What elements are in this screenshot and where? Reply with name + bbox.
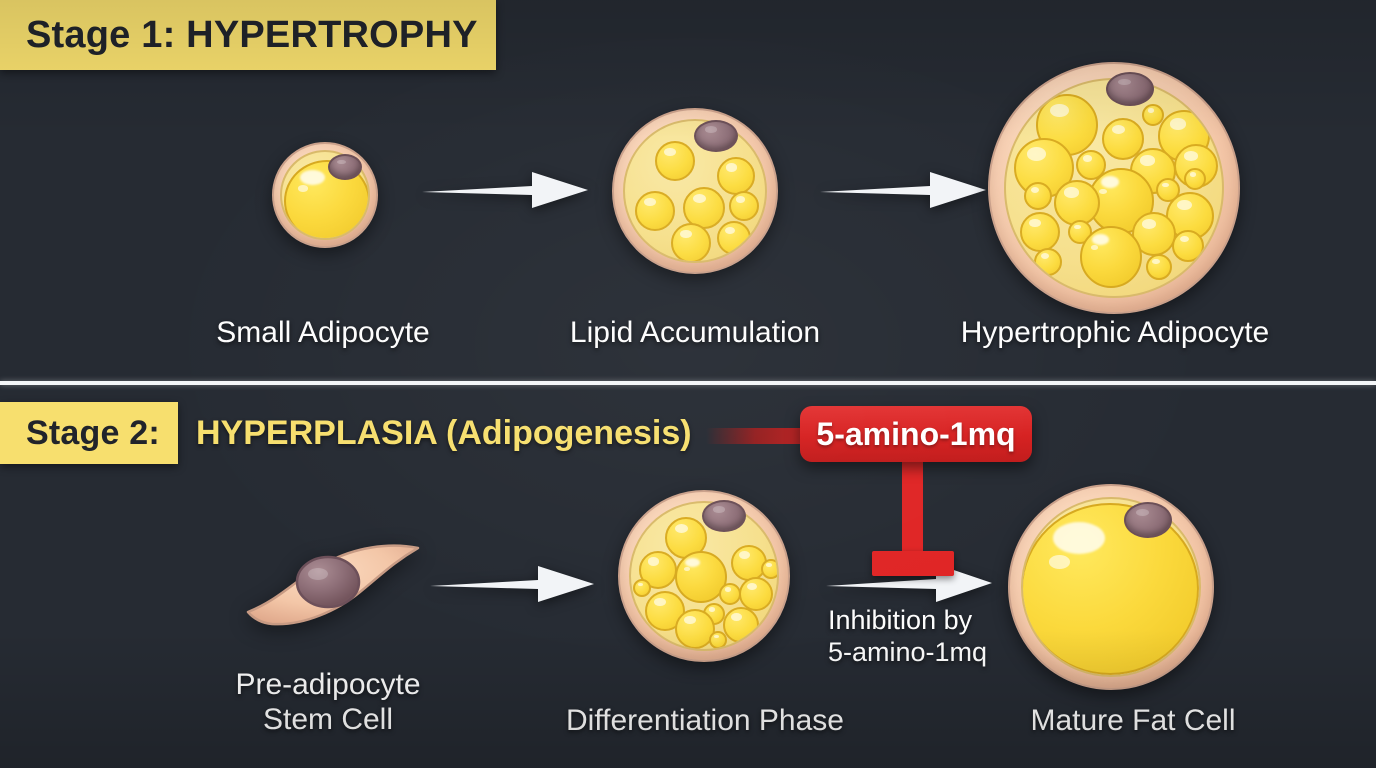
stage2-banner: Stage 2: xyxy=(0,402,178,464)
cell-pre-adipocyte xyxy=(242,534,428,638)
cell-nucleus xyxy=(694,120,738,152)
cell-lipid-accumulation xyxy=(612,108,778,274)
cell-mature-fat-cell xyxy=(1008,484,1214,690)
lipid-droplet xyxy=(1172,230,1204,262)
lipid-droplet xyxy=(1021,503,1199,675)
caption-small-adipocyte: Small Adipocyte xyxy=(160,316,486,351)
lipid-droplet xyxy=(1034,248,1062,276)
stage2-banner-title: HYPERPLASIA (Adipogenesis) xyxy=(196,402,692,464)
cell-small-adipocyte xyxy=(272,142,378,248)
lipid-droplet xyxy=(1184,168,1206,190)
cell-hypertrophic-adipocyte xyxy=(988,62,1240,314)
cell-cytoplasm xyxy=(1021,497,1201,677)
stage1-banner-label: Stage 1: HYPERTROPHY xyxy=(26,16,478,54)
lipid-droplet xyxy=(717,221,751,255)
cell-differentiation-phase xyxy=(618,490,790,662)
lipid-droplet xyxy=(1024,182,1052,210)
drug-badge-label: 5-amino-1mq xyxy=(816,416,1015,453)
lipid-droplet xyxy=(633,579,651,597)
drug-badge[interactable]: 5-amino-1mq xyxy=(800,406,1032,462)
cell-nucleus xyxy=(1124,502,1172,538)
lipid-droplet xyxy=(717,157,755,195)
stage-divider xyxy=(0,381,1376,385)
caption-hypertrophic-adipocyte: Hypertrophic Adipocyte xyxy=(930,316,1300,351)
arrow-right-1 xyxy=(420,168,590,212)
inhibition-label: Inhibition by 5-amino-1mq xyxy=(828,604,1028,669)
cell-nucleus xyxy=(702,500,746,532)
lipid-droplet xyxy=(729,191,759,221)
arrow-right-3 xyxy=(428,562,596,606)
cell-cytoplasm xyxy=(1004,78,1224,298)
figure-canvas: Small Adipocyte Lipid Accumulation Hyper… xyxy=(0,0,1376,768)
lipid-droplet xyxy=(719,583,741,605)
lipid-droplet xyxy=(709,631,727,649)
cell-nucleus xyxy=(1106,72,1154,106)
lipid-droplet xyxy=(761,559,779,579)
lipid-droplet xyxy=(1146,254,1172,280)
cell-nucleus xyxy=(328,154,362,180)
lipid-droplet xyxy=(723,607,759,643)
caption-differentiation-phase: Differentiation Phase xyxy=(540,704,870,739)
lipid-droplet xyxy=(1054,180,1100,226)
stage1-banner: Stage 1: HYPERTROPHY xyxy=(0,0,496,70)
lipid-droplet xyxy=(635,191,675,231)
caption-pre-adipocyte: Pre-adipocyte Stem Cell xyxy=(170,668,486,737)
lipid-droplet xyxy=(1020,212,1060,252)
lipid-droplet xyxy=(655,141,695,181)
lipid-droplet xyxy=(671,223,711,263)
stage2-banner-label: Stage 2: xyxy=(26,416,160,450)
inhibition-bar-icon xyxy=(872,551,954,576)
lipid-droplet xyxy=(739,577,773,611)
lipid-droplet xyxy=(1080,226,1142,288)
caption-mature-fat-cell: Mature Fat Cell xyxy=(968,704,1298,739)
arrow-right-2 xyxy=(818,168,988,212)
caption-lipid-accumulation: Lipid Accumulation xyxy=(532,316,858,351)
